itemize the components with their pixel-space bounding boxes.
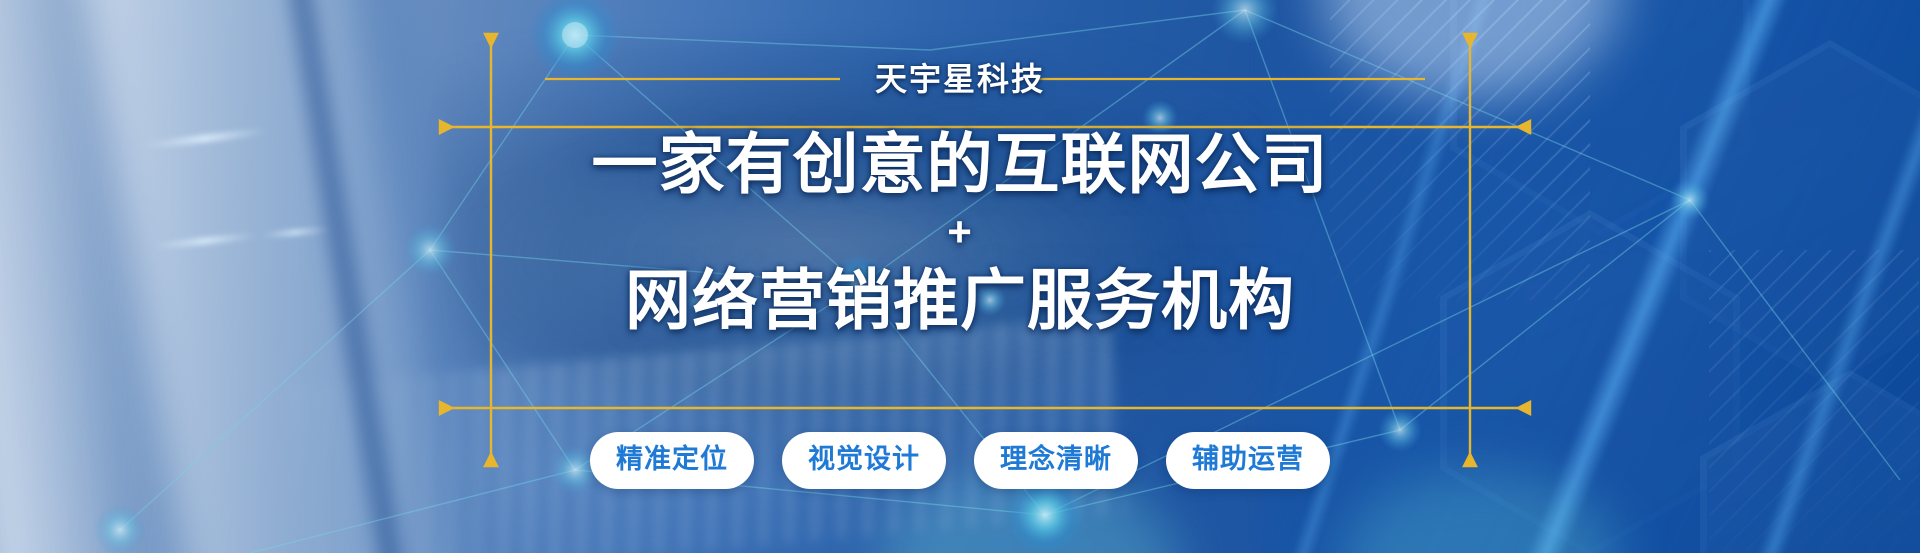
feature-tag-precise-positioning[interactable]: 精准定位 bbox=[590, 432, 754, 489]
hero-banner: 天宇星科技 一家有创意的互联网公司 + 网络营销推广服务机构 精准定位 视觉设计… bbox=[0, 0, 1920, 553]
headline-line-2: 网络营销推广服务机构 bbox=[0, 260, 1920, 340]
headline-block: 一家有创意的互联网公司 + 网络营销推广服务机构 bbox=[0, 124, 1920, 340]
brand-eyebrow-row: 天宇星科技 bbox=[0, 56, 1920, 102]
feature-tag-visual-design[interactable]: 视觉设计 bbox=[782, 432, 946, 489]
headline-plus-separator: + bbox=[0, 204, 1920, 260]
feature-tag-clear-concept[interactable]: 理念清晰 bbox=[974, 432, 1138, 489]
headline-line-1: 一家有创意的互联网公司 bbox=[0, 124, 1920, 204]
feature-tag-list: 精准定位 视觉设计 理念清晰 辅助运营 bbox=[0, 432, 1920, 489]
feature-tag-operation-support[interactable]: 辅助运营 bbox=[1166, 432, 1330, 489]
brand-eyebrow: 天宇星科技 bbox=[855, 63, 1065, 95]
banner-content: 天宇星科技 一家有创意的互联网公司 + 网络营销推广服务机构 精准定位 视觉设计… bbox=[0, 0, 1920, 553]
